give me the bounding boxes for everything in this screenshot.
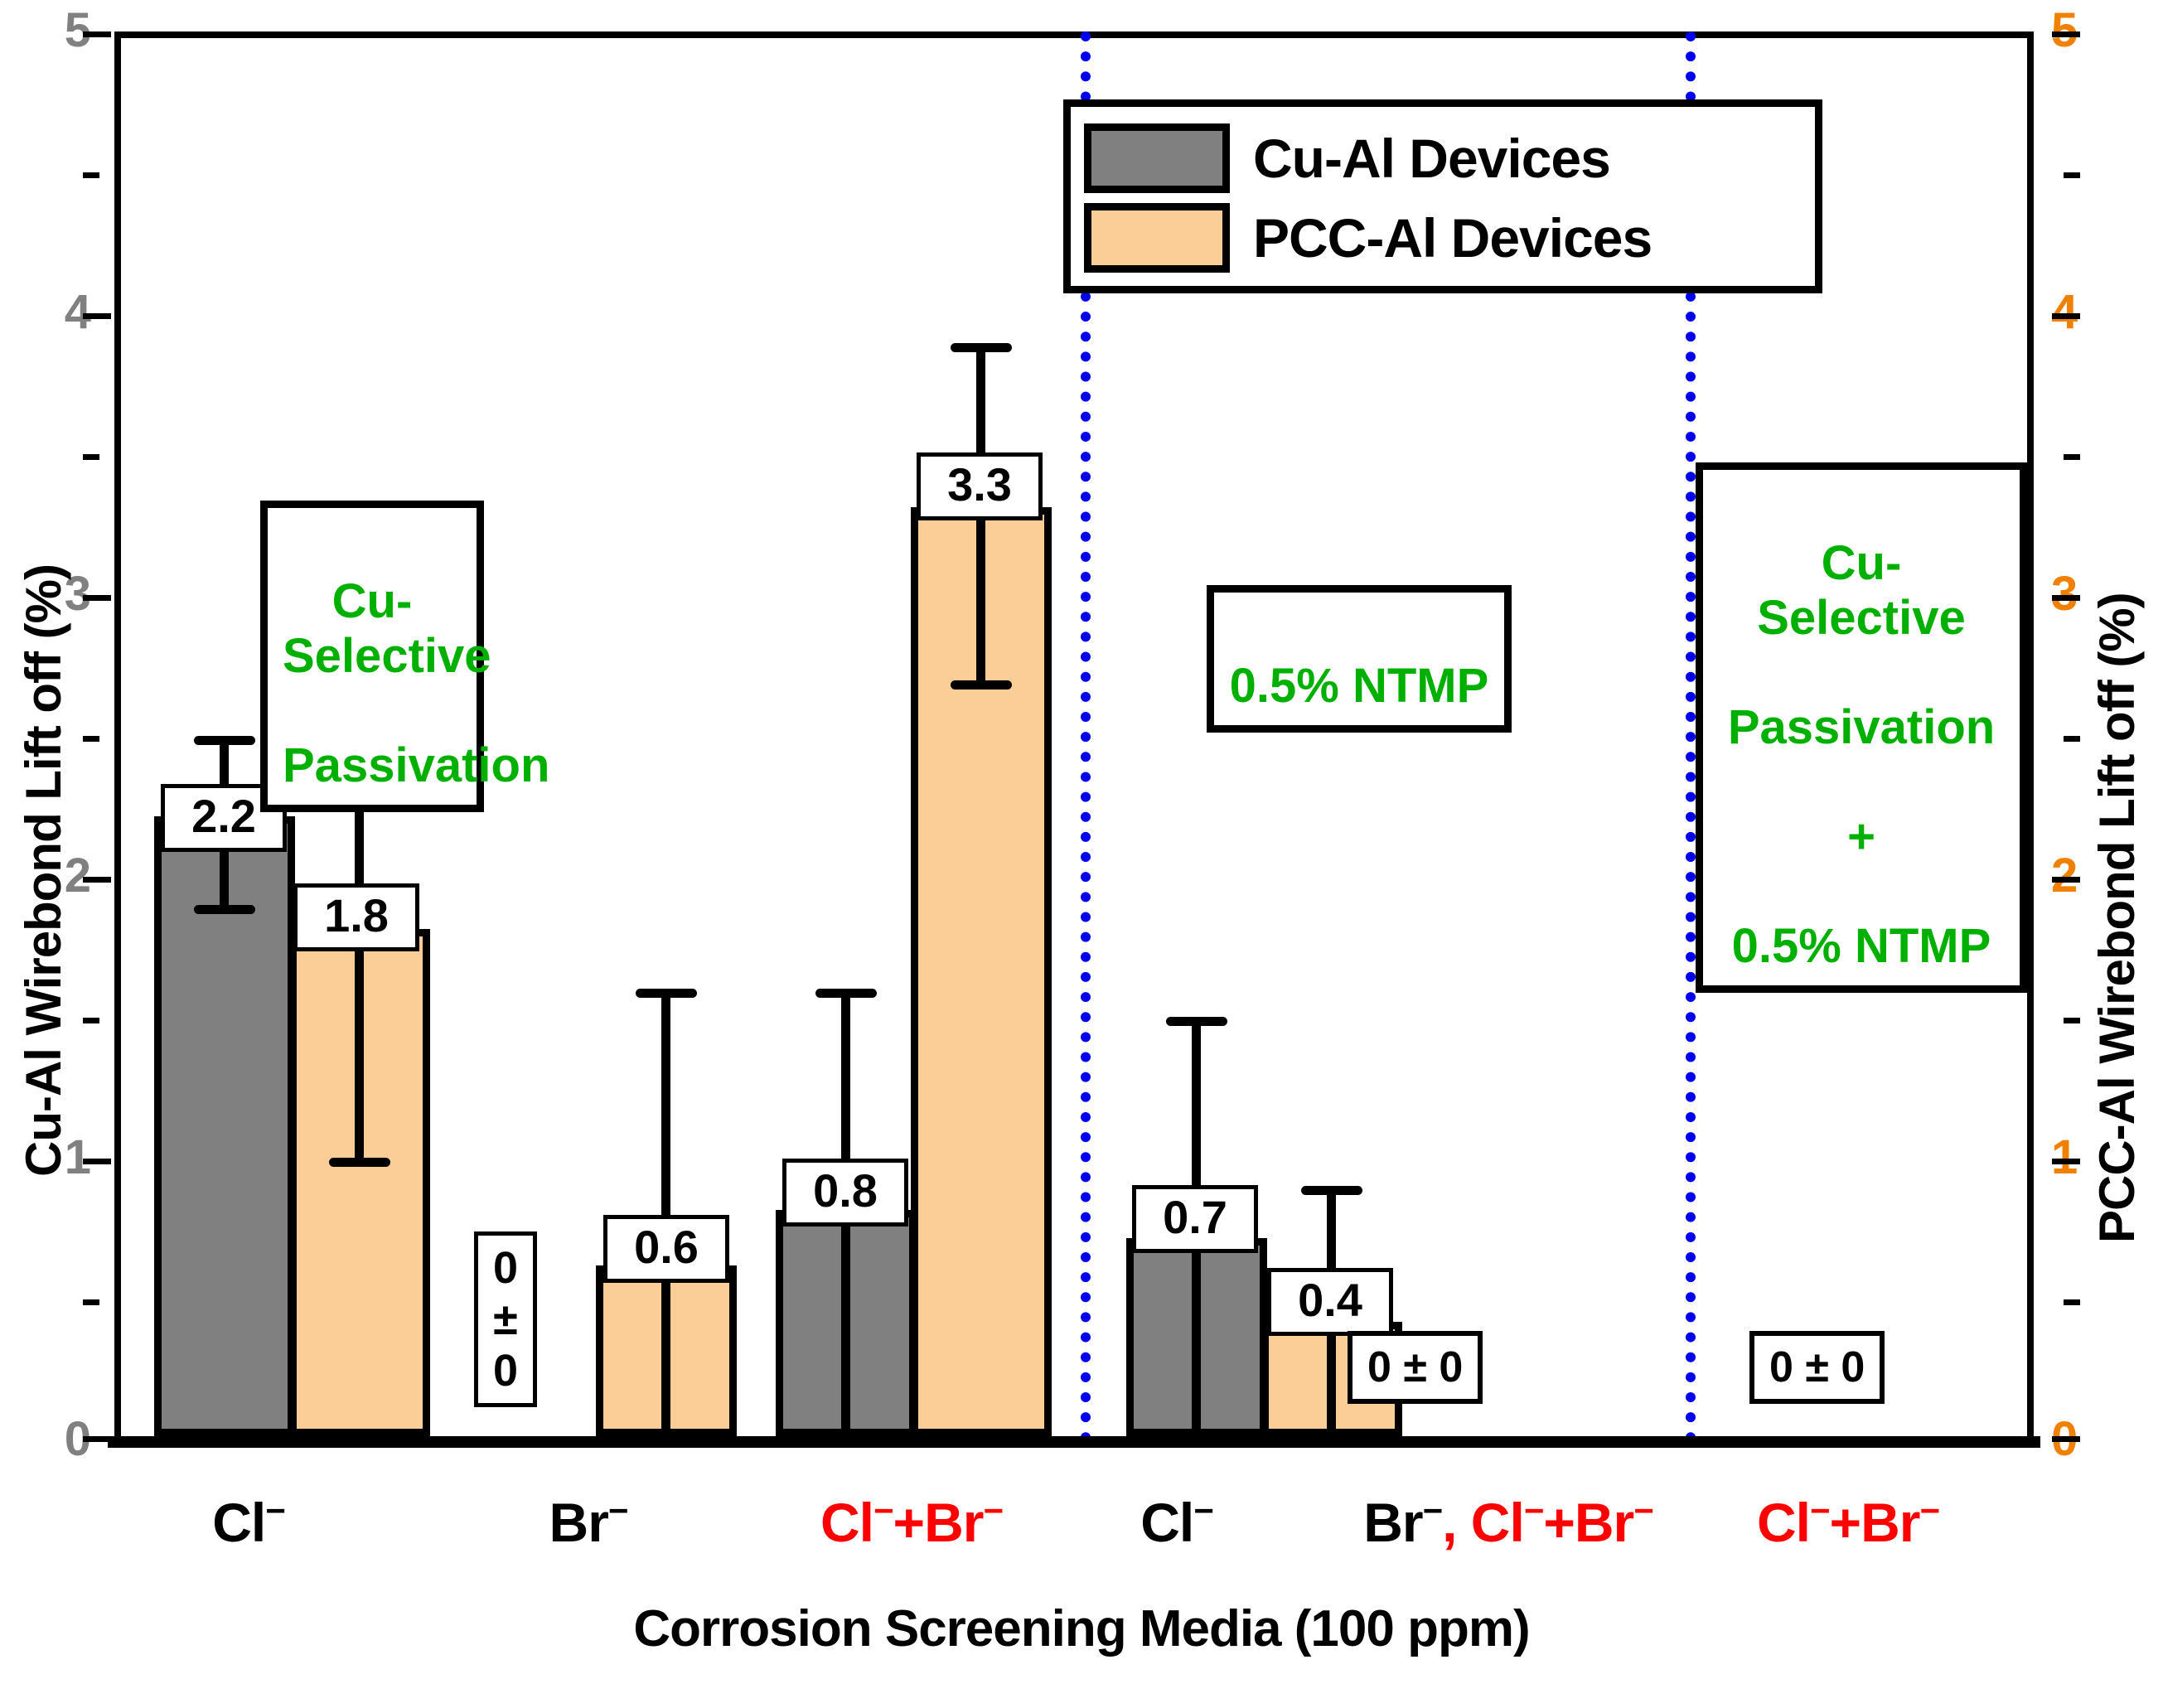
errorbar-cap-top-pcc-al-cl-ntmp — [1301, 1186, 1362, 1195]
tick-right-2p5 — [2064, 736, 2080, 742]
x-label-cl-ntmp: Cl− — [1077, 1483, 1276, 1550]
tick-left-0p5 — [83, 1299, 99, 1305]
annotation-line: Cu-Selective — [283, 574, 491, 683]
legend: Cu-Al Devices PCC-Al Devices — [1063, 99, 1822, 293]
tick-right-0 — [2052, 1436, 2080, 1442]
tick-left-4p5 — [83, 172, 99, 178]
x-label-text: Br — [549, 1492, 608, 1553]
x-label-superscript: − — [1633, 1491, 1653, 1530]
errorbar-cap-top-pcc-al-clbr — [951, 343, 1012, 352]
x-label-superscript: − — [873, 1491, 893, 1530]
tick-left-0 — [83, 1436, 111, 1442]
annotation-line: 0.5% NTMP — [1230, 659, 1489, 713]
tick-left-5 — [83, 31, 111, 37]
x-label-superscript: − — [1919, 1491, 1939, 1530]
tick-right-4 — [2052, 313, 2080, 319]
x-label-cl-br: Cl−+Br− — [746, 1483, 1077, 1550]
tick-left-3p5 — [83, 454, 99, 460]
y-tick-right-4: 4 — [2051, 288, 2151, 336]
tick-right-3 — [2052, 595, 2080, 601]
value-label-pcc-al-cl-ntmp: 0.4 — [1267, 1268, 1393, 1336]
y-tick-left-5: 5 — [0, 7, 91, 55]
legend-item-cu-al: Cu-Al Devices — [1084, 119, 1802, 198]
errorbar-cap-bottom-pcc-al-cl — [329, 1158, 390, 1167]
x-label-text: +Br — [1543, 1492, 1633, 1553]
annotation-cu-selective-passivation: Cu-Selective Passivation — [260, 501, 484, 812]
errorbar-cap-top-cu-al-clbr — [815, 989, 877, 998]
y-axis-title-right: PCC-Al Wirebond Lift off (%) — [2088, 593, 2146, 1243]
y-tick-left-0: 0 — [0, 1415, 91, 1464]
x-label-br: Br− — [489, 1483, 688, 1550]
x-label-text: Cl — [212, 1492, 265, 1553]
errorbar-cap-top-cu-al-cl — [194, 736, 255, 745]
legend-label-pcc-al: PCC-Al Devices — [1253, 210, 1652, 265]
x-label-text: +Br — [1830, 1492, 1920, 1553]
value-label-zero-ntmp: 0 ± 0 — [1348, 1331, 1483, 1404]
legend-swatch-cu-al — [1084, 123, 1230, 193]
tick-left-4 — [83, 313, 111, 319]
x-label-superscript: − — [983, 1491, 1003, 1530]
value-label-pcc-al-clbr: 3.3 — [917, 452, 1043, 520]
x-label-superscript: − — [1524, 1491, 1544, 1530]
annotation-ntmp: 0.5% NTMP — [1207, 585, 1512, 733]
errorbar-cap-bottom-cu-al-cl — [194, 905, 255, 914]
tick-right-1 — [2052, 1159, 2080, 1164]
x-label-text: Cl — [1757, 1492, 1810, 1553]
tick-left-2p5 — [83, 736, 99, 742]
annotation-passivation-plus-ntmp: Cu-Selective Passivation + 0.5% NTMP — [1696, 462, 2027, 993]
errorbar-cap-top-pcc-al-br — [636, 989, 697, 998]
value-label-cu-al-cl-ntmp: 0.7 — [1132, 1185, 1258, 1253]
tick-right-3p5 — [2064, 454, 2080, 460]
value-label-cu-al-br: 0±0 — [474, 1231, 537, 1407]
errorbar-cap-top-cu-al-cl-ntmp — [1166, 1017, 1227, 1026]
tick-right-2 — [2052, 877, 2080, 883]
x-label-superscript: − — [608, 1491, 628, 1530]
x-label-text: Cl — [820, 1492, 873, 1553]
annotation-line: 0.5% NTMP — [1732, 919, 1991, 973]
tick-left-3 — [83, 595, 111, 601]
x-label-superscript: − — [1423, 1491, 1443, 1530]
x-label-cl-br-both: Cl−+Br− — [1682, 1483, 2014, 1550]
x-label-text: +Br — [893, 1492, 984, 1553]
x-label-text: Br — [1363, 1492, 1422, 1553]
annotation-line: Passivation — [1728, 700, 1995, 754]
x-axis-title: Corrosion Screening Media (100 ppm) — [0, 1599, 2163, 1658]
x-label-cl: Cl− — [149, 1483, 348, 1550]
value-label-pcc-al-br: 0.6 — [603, 1215, 729, 1283]
annotation-line: Cu-Selective — [1757, 536, 1966, 645]
annotation-line: Passivation — [283, 738, 549, 792]
tick-right-0p5 — [2064, 1299, 2080, 1305]
x-axis-baseline — [108, 1436, 2040, 1448]
value-label-zero-both: 0 ± 0 — [1749, 1331, 1885, 1404]
x-label-superscript: − — [1193, 1491, 1213, 1530]
y-axis-title-left: Cu-Al Wirebond Lift off (%) — [15, 564, 72, 1177]
y-tick-left-4: 4 — [0, 288, 91, 336]
annotation-line: + — [1847, 810, 1875, 864]
x-label-superscript: − — [1810, 1491, 1830, 1530]
tick-right-4p5 — [2064, 172, 2080, 178]
value-label-pcc-al-cl: 1.8 — [293, 883, 419, 951]
errorbar-cap-bottom-pcc-al-clbr — [951, 680, 1012, 689]
tick-right-1p5 — [2064, 1018, 2080, 1023]
tick-right-5 — [2052, 31, 2080, 37]
value-label-cu-al-clbr: 0.8 — [782, 1159, 908, 1227]
legend-item-pcc-al: PCC-Al Devices — [1084, 198, 1802, 278]
x-label-br-cl-br-ntmp: Br−, Cl−+Br− — [1276, 1483, 1740, 1550]
x-label-superscript: − — [265, 1491, 285, 1530]
x-label-text: , Cl — [1442, 1492, 1524, 1553]
tick-left-2 — [83, 877, 111, 883]
y-tick-right-5: 5 — [2051, 7, 2151, 55]
x-label-text: Cl — [1140, 1492, 1193, 1553]
bar-chart-figure: 5 4 3 2 1 0 5 4 3 2 1 0 Cu-Al Wirebond L… — [0, 0, 2163, 1708]
legend-label-cu-al: Cu-Al Devices — [1253, 131, 1610, 186]
legend-swatch-pcc-al — [1084, 203, 1230, 273]
tick-left-1p5 — [83, 1018, 99, 1023]
tick-left-1 — [83, 1159, 111, 1164]
